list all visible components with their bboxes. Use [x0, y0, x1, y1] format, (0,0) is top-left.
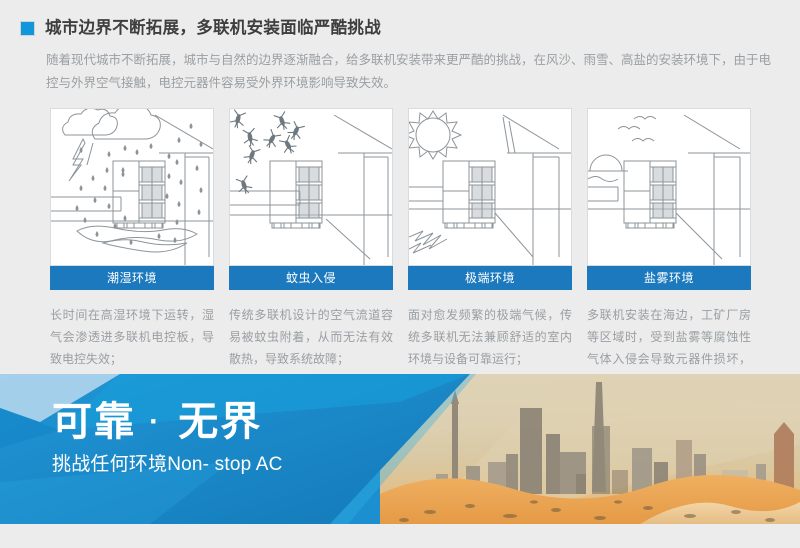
blazing-sun-icon [409, 109, 571, 265]
seaside-birds-sunset-icon [588, 109, 750, 265]
environment-card: 潮湿环境 长时间在高湿环境下运转，湿气会渗透进多联机电控板，导致电控失效； [50, 108, 214, 392]
mosquito-swarm-icon [230, 109, 392, 265]
card-label: 极端环境 [408, 266, 572, 290]
banner-headline: 可靠 · 无界 [52, 398, 482, 446]
card-illustration-frame [229, 108, 393, 266]
card-caption: 长时间在高湿环境下运转，湿气会渗透进多联机电控板，导致电控失效； [50, 304, 214, 370]
card-caption: 传统多联机设计的空气流道容易被蚊虫附着，从而无法有效散热，导致系统故障； [229, 304, 393, 370]
environment-card: 极端环境 面对愈发频繁的极端气候，传统多联机无法兼顾舒适的室内环境与设备可靠运行… [408, 108, 572, 392]
card-illustration-frame [408, 108, 572, 266]
rain-cloud-lightning-icon [51, 109, 213, 265]
card-label: 蚊虫入侵 [229, 266, 393, 290]
promo-page: 城市边界不断拓展，多联机安装面临严酷挑战 随着现代城市不断拓展，城市与自然的边界… [0, 0, 800, 548]
banner-text-block: 可靠 · 无界 挑战任何环境Non- stop AC [52, 398, 482, 478]
card-caption: 面对愈发频繁的极端气候，传统多联机无法兼顾舒适的室内环境与设备可靠运行； [408, 304, 572, 370]
promo-banner: 可靠 · 无界 挑战任何环境Non- stop AC [0, 374, 800, 524]
card-illustration-frame [50, 108, 214, 266]
environment-card-list: 潮湿环境 长时间在高湿环境下运转，湿气会渗透进多联机电控板，导致电控失效； [50, 108, 760, 392]
page-header: 城市边界不断拓展，多联机安装面临严酷挑战 随着现代城市不断拓展，城市与自然的边界… [0, 0, 800, 95]
banner-subheadline: 挑战任何环境Non- stop AC [52, 452, 482, 478]
intro-paragraph: 随着现代城市不断拓展，城市与自然的边界逐渐融合，给多联机安装带来更严酷的挑战，在… [46, 49, 776, 95]
card-label: 盐雾环境 [587, 266, 751, 290]
card-label: 潮湿环境 [50, 266, 214, 290]
banner-headline-separator: · [149, 405, 165, 438]
title-row: 城市边界不断拓展，多联机安装面临严酷挑战 [0, 0, 800, 37]
page-title: 城市边界不断拓展，多联机安装面临严酷挑战 [45, 20, 381, 37]
environment-card: 蚊虫入侵 传统多联机设计的空气流道容易被蚊虫附着，从而无法有效散热，导致系统故障… [229, 108, 393, 392]
environment-card: 盐雾环境 多联机安装在海边，工矿厂房等区域时，受到盐雾等腐蚀性气体入侵会导致元器… [587, 108, 751, 392]
banner-headline-left: 可靠 [52, 400, 136, 444]
banner-headline-right: 无界 [178, 400, 262, 444]
card-illustration-frame [587, 108, 751, 266]
square-bullet-icon [20, 21, 35, 36]
